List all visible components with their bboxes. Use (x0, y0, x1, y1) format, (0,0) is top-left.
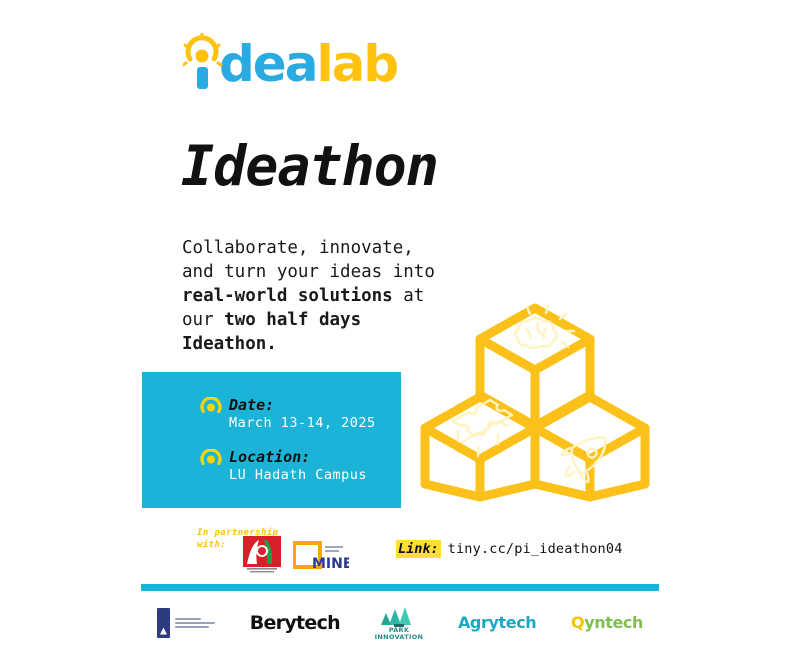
agrytech-wordmark: Agrytech (458, 613, 536, 632)
qyntech-rest: yntech (584, 613, 643, 632)
location-pin-icon (200, 449, 222, 471)
logo-letter-d: d (219, 39, 253, 89)
logo-letter-a2: a (332, 39, 364, 89)
university-crest-icon (157, 608, 170, 638)
pine-trees-icon (379, 605, 419, 627)
blurb-line-1: Collaborate, innovate, (182, 238, 414, 258)
logo-letter-a: a (285, 39, 317, 89)
location-pin-icon (200, 397, 222, 419)
svg-text:MINE: MINE (312, 556, 349, 571)
detail-value-location: LU Hadath Campus (229, 466, 367, 485)
partner-logos: MINE (243, 536, 349, 574)
mine-logo: MINE (293, 539, 349, 571)
italian-cooperation-logo (243, 536, 281, 574)
park-innovation-line2: INNOVATION (375, 634, 424, 641)
park-innovation-logo: PARK INNOVATION (375, 605, 424, 641)
detail-value-date: March 13-14, 2025 (229, 414, 376, 433)
blurb-line-2: and turn your ideas into (182, 262, 435, 282)
berytech-logo: Berytech (250, 612, 340, 634)
detail-label-date: Date: (229, 396, 376, 414)
footer-logos: Berytech PARK INNOVATION Agrytech Qyntec… (141, 600, 659, 645)
footer-divider (141, 584, 659, 591)
poster-canvas: dealab Ideathon Collaborate, innovate, a… (0, 0, 796, 645)
registration-link[interactable]: Link: tiny.cc/pi_ideathon04 (396, 540, 623, 558)
blurb-line-4-bold: two half days (224, 310, 361, 330)
logo-letter-l: l (316, 39, 331, 89)
blurb-line-5-bold: Ideathon. (182, 334, 277, 354)
isometric-cubes-illustration (420, 295, 650, 510)
idealab-wordmark: dealab (219, 39, 397, 89)
university-wordmark-lines (175, 618, 215, 628)
event-details-box: Date: March 13-14, 2025 Location: LU Had… (142, 372, 401, 508)
link-url[interactable]: tiny.cc/pi_ideathon04 (448, 541, 623, 557)
logo-letter-b: b (363, 39, 397, 89)
idealab-logo: dealab (183, 33, 397, 95)
qyntech-initial: Q (571, 613, 584, 632)
berytech-wordmark: Berytech (250, 612, 340, 634)
detail-row-date: Date: March 13-14, 2025 (200, 396, 376, 433)
university-logo (157, 608, 215, 638)
qyntech-logo: Qyntech (571, 613, 643, 632)
detail-row-location: Location: LU Hadath Campus (200, 448, 367, 485)
agrytech-logo: Agrytech (458, 613, 536, 632)
page-title: Ideathon (181, 139, 438, 194)
detail-label-location: Location: (229, 448, 367, 466)
blurb-line-4-lead: our (182, 310, 224, 330)
lightbulb-icon (183, 33, 223, 95)
blurb-line-3-bold: real-world solutions (182, 286, 393, 306)
qyntech-wordmark: Qyntech (571, 613, 643, 632)
logo-letter-e: e (253, 39, 285, 89)
link-label: Link: (396, 540, 441, 558)
